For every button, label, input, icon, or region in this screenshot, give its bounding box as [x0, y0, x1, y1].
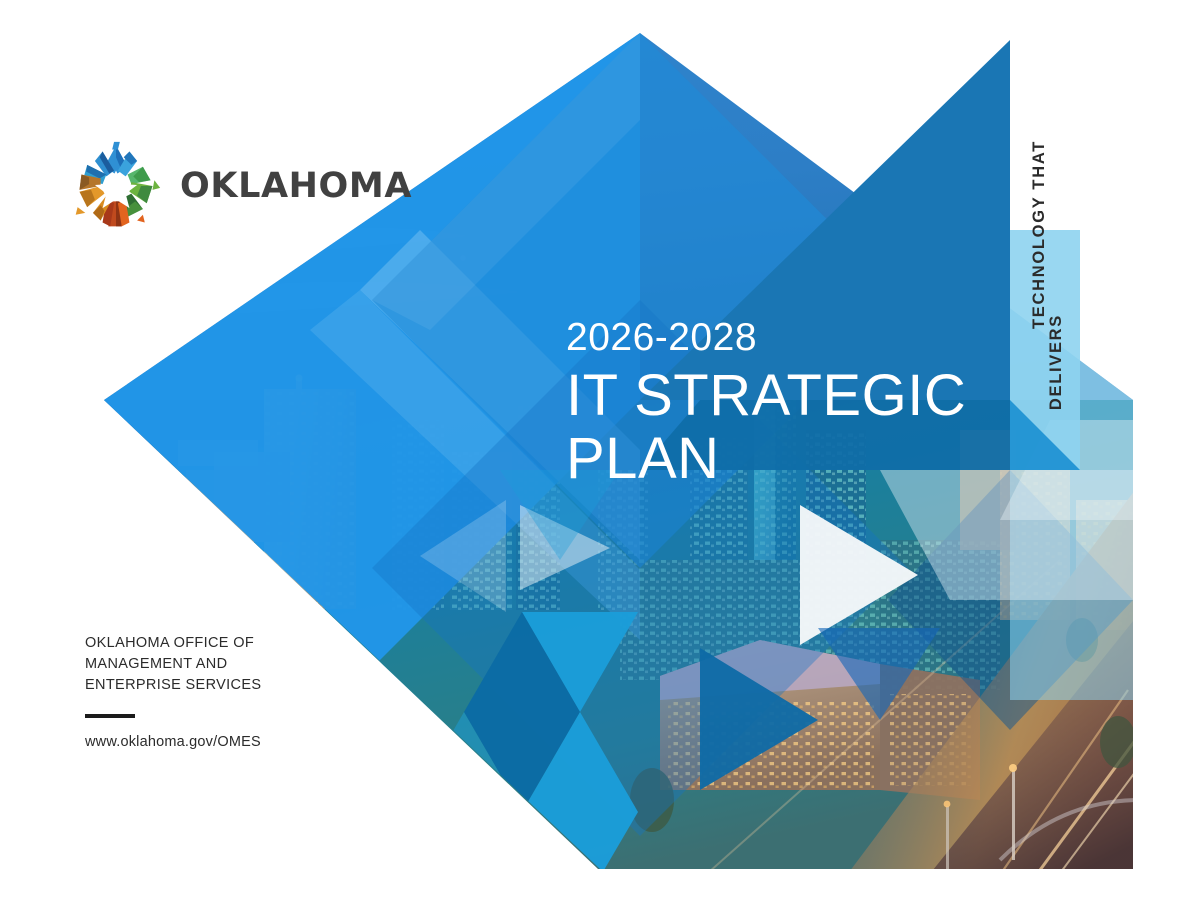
title-main: IT STRATEGIC PLAN	[566, 365, 966, 490]
org-line-3: ENTERPRISE SERVICES	[85, 675, 425, 696]
organization-name: OKLAHOMA OFFICE OF MANAGEMENT AND ENTERP…	[85, 633, 425, 696]
oklahoma-wordmark: OKLAHOMA	[180, 169, 412, 204]
title-line-2: PLAN	[566, 428, 966, 491]
footer: OKLAHOMA OFFICE OF MANAGEMENT AND ENTERP…	[85, 633, 425, 750]
oklahoma-star-logo-icon	[68, 138, 164, 234]
org-line-2: MANAGEMENT AND	[85, 654, 425, 675]
page-title: 2026-2028 IT STRATEGIC PLAN	[566, 318, 966, 490]
tagline-line-2: DELIVERS	[1048, 314, 1065, 410]
title-line-1: IT STRATEGIC	[566, 363, 966, 428]
cover-page: OKLAHOMA TECHNOLOGY THAT DELIVERS 2026-2…	[0, 0, 1182, 911]
footer-url[interactable]: www.oklahoma.gov/OMES	[85, 734, 425, 750]
footer-divider	[85, 714, 135, 718]
tagline-line-1: TECHNOLOGY THAT	[1031, 140, 1048, 329]
org-line-1: OKLAHOMA OFFICE OF	[85, 633, 425, 654]
tagline: TECHNOLOGY THAT DELIVERS	[1031, 140, 1091, 410]
oklahoma-logo: OKLAHOMA	[68, 138, 412, 234]
title-years: 2026-2028	[566, 318, 966, 359]
